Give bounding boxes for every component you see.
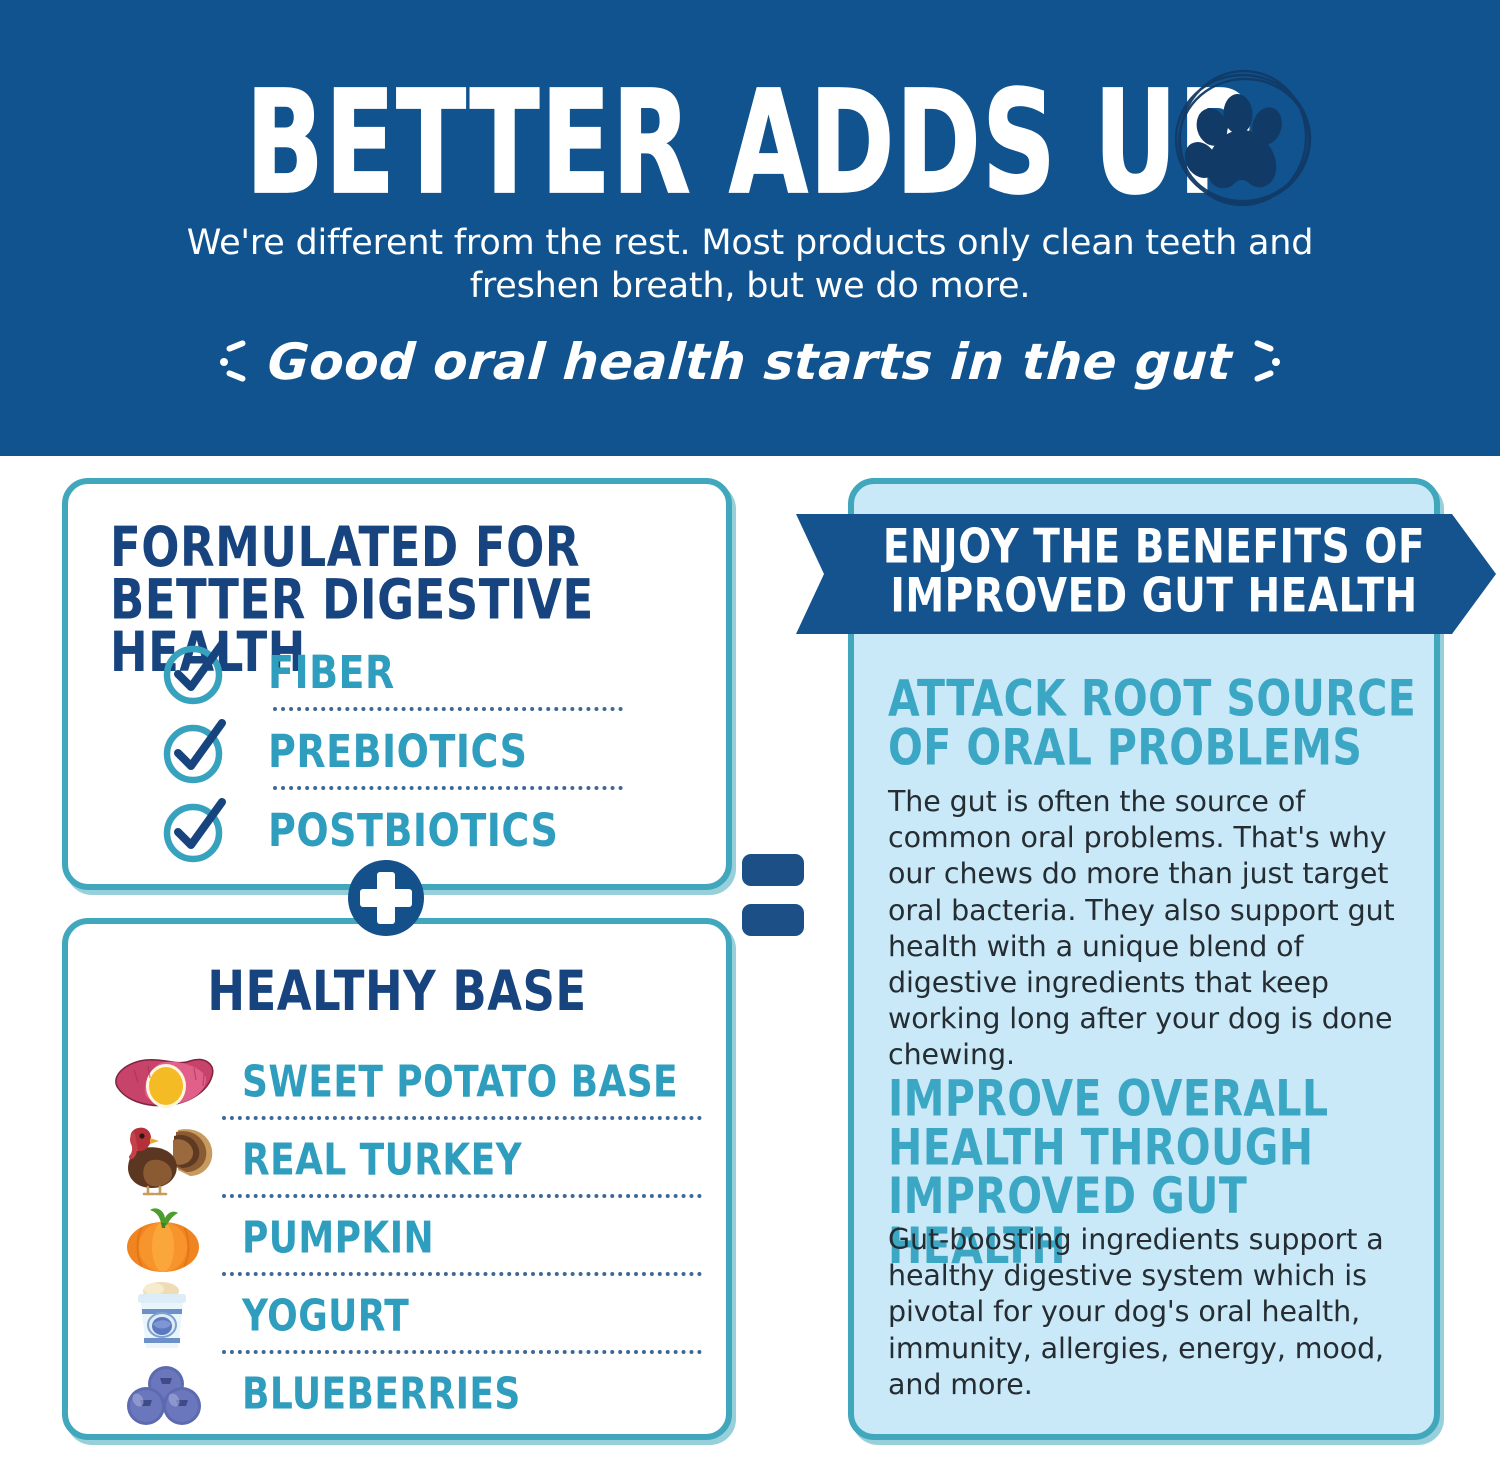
check-item-label: PREBIOTICS — [268, 725, 528, 778]
blueberries-icon — [104, 1356, 222, 1430]
healthy-base-card: HEALTHY BASE SWEET POTATO BASE — [62, 918, 732, 1440]
pumpkin-icon — [104, 1200, 222, 1274]
formulated-check-list: FIBER PREBIOTICS — [98, 632, 708, 865]
plus-circle-icon — [348, 860, 424, 936]
header-banner: BETTER ADDS UP We're different from the … — [0, 0, 1500, 456]
list-item: BLUEBERRIES — [94, 1354, 714, 1433]
benefit-body: The gut is often the source of common or… — [888, 784, 1422, 1074]
ingredient-label: SWEET POTATO BASE — [242, 1058, 678, 1107]
sweet-potato-icon — [104, 1044, 222, 1118]
ingredient-label: REAL TURKEY — [242, 1136, 522, 1185]
header-script-line: Good oral health starts in the gut — [266, 333, 1234, 391]
list-item: POSTBIOTICS — [98, 790, 708, 865]
ingredient-label: YOGURT — [242, 1292, 409, 1341]
check-circle-icon — [160, 636, 230, 706]
check-circle-icon — [160, 794, 230, 864]
benefits-ribbon-title: ENJOY THE BENEFITS OF IMPROVED GUT HEALT… — [854, 524, 1454, 621]
healthy-base-ingredient-list: SWEET POTATO BASE — [94, 1042, 714, 1433]
benefit-heading: ATTACK ROOT SOURCE OF ORAL PROBLEMS — [888, 674, 1428, 772]
healthy-base-card-title: HEALTHY BASE — [68, 966, 726, 1018]
check-item-label: POSTBIOTICS — [268, 804, 558, 857]
header-subtitle: We're different from the rest. Most prod… — [150, 222, 1350, 307]
equals-sign-icon — [742, 854, 804, 938]
list-item: REAL TURKEY — [94, 1120, 714, 1199]
list-item: PUMPKIN — [94, 1198, 714, 1277]
list-item: SWEET POTATO BASE — [94, 1042, 714, 1121]
list-item: FIBER — [98, 632, 708, 707]
check-circle-icon — [160, 715, 230, 785]
benefit-body: Gut-boosting ingredients support a healt… — [888, 1222, 1412, 1403]
yogurt-cup-icon — [104, 1278, 222, 1352]
turkey-icon — [104, 1122, 222, 1196]
paw-print-icon — [1168, 64, 1318, 214]
formulated-card: FORMULATED FOR BETTER DIGESTIVE HEALTH F… — [62, 478, 732, 890]
list-item: YOGURT — [94, 1276, 714, 1355]
check-item-label: FIBER — [268, 646, 395, 699]
list-item: PREBIOTICS — [98, 711, 708, 786]
benefits-ribbon: ENJOY THE BENEFITS OF IMPROVED GUT HEALT… — [796, 514, 1496, 634]
header-script-row: Good oral health starts in the gut — [0, 333, 1500, 391]
ingredient-label: BLUEBERRIES — [242, 1370, 521, 1419]
ingredient-label: PUMPKIN — [242, 1214, 434, 1263]
sparkle-right-icon — [1254, 339, 1280, 385]
content-area: FORMULATED FOR BETTER DIGESTIVE HEALTH F… — [0, 456, 1500, 1464]
sparkle-left-icon — [220, 339, 246, 385]
